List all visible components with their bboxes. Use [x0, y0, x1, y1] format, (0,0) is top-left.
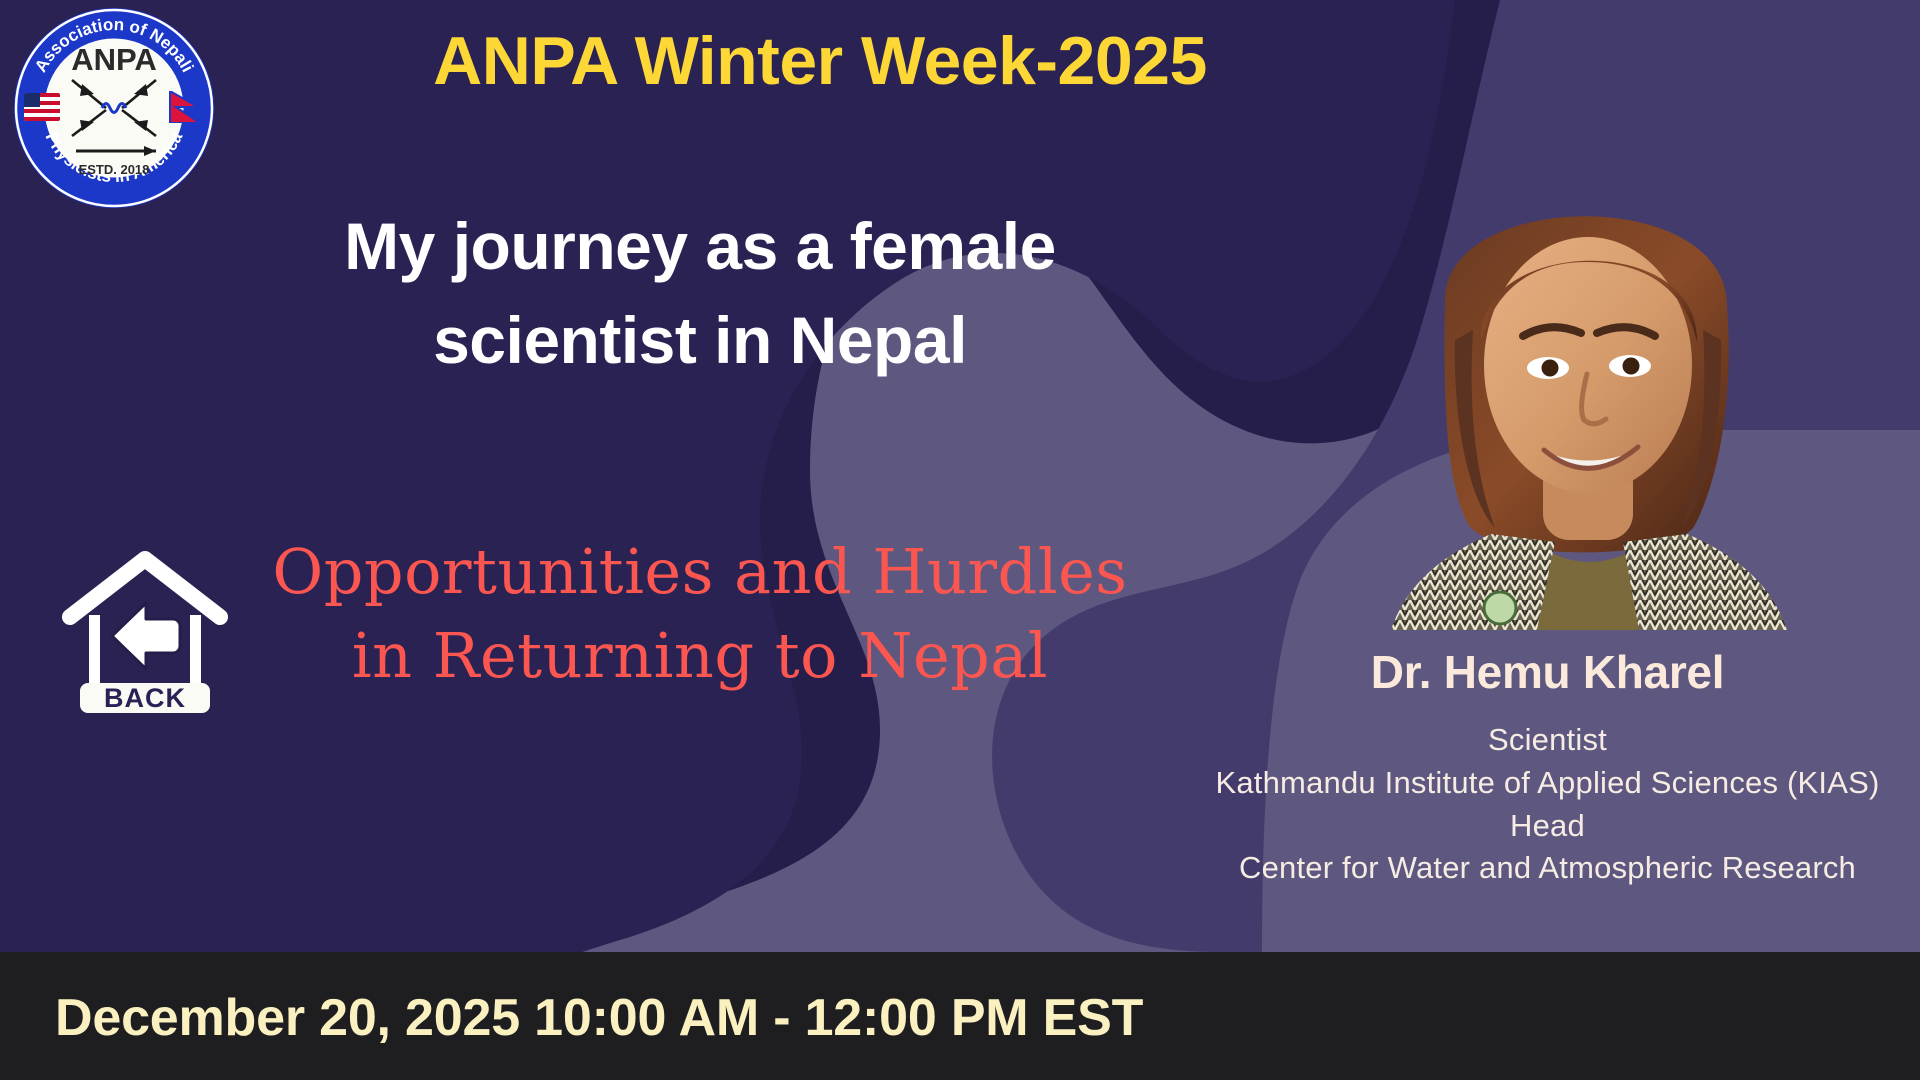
- speaker-name: Dr. Hemu Kharel: [1175, 645, 1920, 700]
- webinar-flyer: Association of Nepali Physicists in Amer…: [0, 0, 1920, 1080]
- talk-subtitle-line-2: in Returning to Nepal: [230, 614, 1170, 698]
- back-home-icon[interactable]: BACK: [60, 545, 230, 715]
- event-datetime: December 20, 2025 10:00 AM - 12:00 PM ES…: [55, 988, 1143, 1048]
- logo-established-text: ESTD. 2018: [79, 162, 150, 177]
- pupil-left: [1542, 360, 1559, 377]
- speaker-affiliation-0: Scientist: [1175, 719, 1920, 762]
- logo-acronym: ANPA: [71, 42, 157, 77]
- speaker-portrait-illustration: [1295, 130, 1875, 630]
- speaker-affiliation-3: Center for Water and Atmospheric Researc…: [1175, 847, 1920, 890]
- anpa-logo: Association of Nepali Physicists in Amer…: [10, 4, 218, 212]
- back-arrow-icon: [112, 603, 180, 669]
- face: [1484, 237, 1692, 493]
- jacket-right: [1623, 534, 1787, 630]
- back-label-text: BACK: [104, 683, 186, 713]
- talk-title-line-1: My journey as a female: [200, 200, 1200, 294]
- speaker-details: Dr. Hemu Kharel Scientist Kathmandu Inst…: [1175, 645, 1920, 890]
- talk-title-line-2: scientist in Nepal: [200, 294, 1200, 388]
- home-wall-right: [190, 615, 201, 683]
- event-title: ANPA Winter Week-2025: [250, 25, 1390, 98]
- jacket-left: [1391, 534, 1555, 630]
- date-bar: December 20, 2025 10:00 AM - 12:00 PM ES…: [0, 952, 1920, 1080]
- talk-title: My journey as a female scientist in Nepa…: [200, 200, 1200, 387]
- pupil-right: [1623, 358, 1640, 375]
- speaker-photo: [1295, 130, 1875, 630]
- talk-subtitle-line-1: Opportunities and Hurdles: [230, 530, 1170, 614]
- speaker-affiliation-1: Kathmandu Institute of Applied Sciences …: [1175, 762, 1920, 805]
- lapel-pin-icon: [1484, 592, 1516, 624]
- talk-subtitle: Opportunities and Hurdles in Returning t…: [230, 530, 1170, 697]
- home-wall-left: [89, 615, 100, 683]
- usa-flag-icon: [24, 93, 60, 121]
- speaker-affiliation-2: Head: [1175, 805, 1920, 848]
